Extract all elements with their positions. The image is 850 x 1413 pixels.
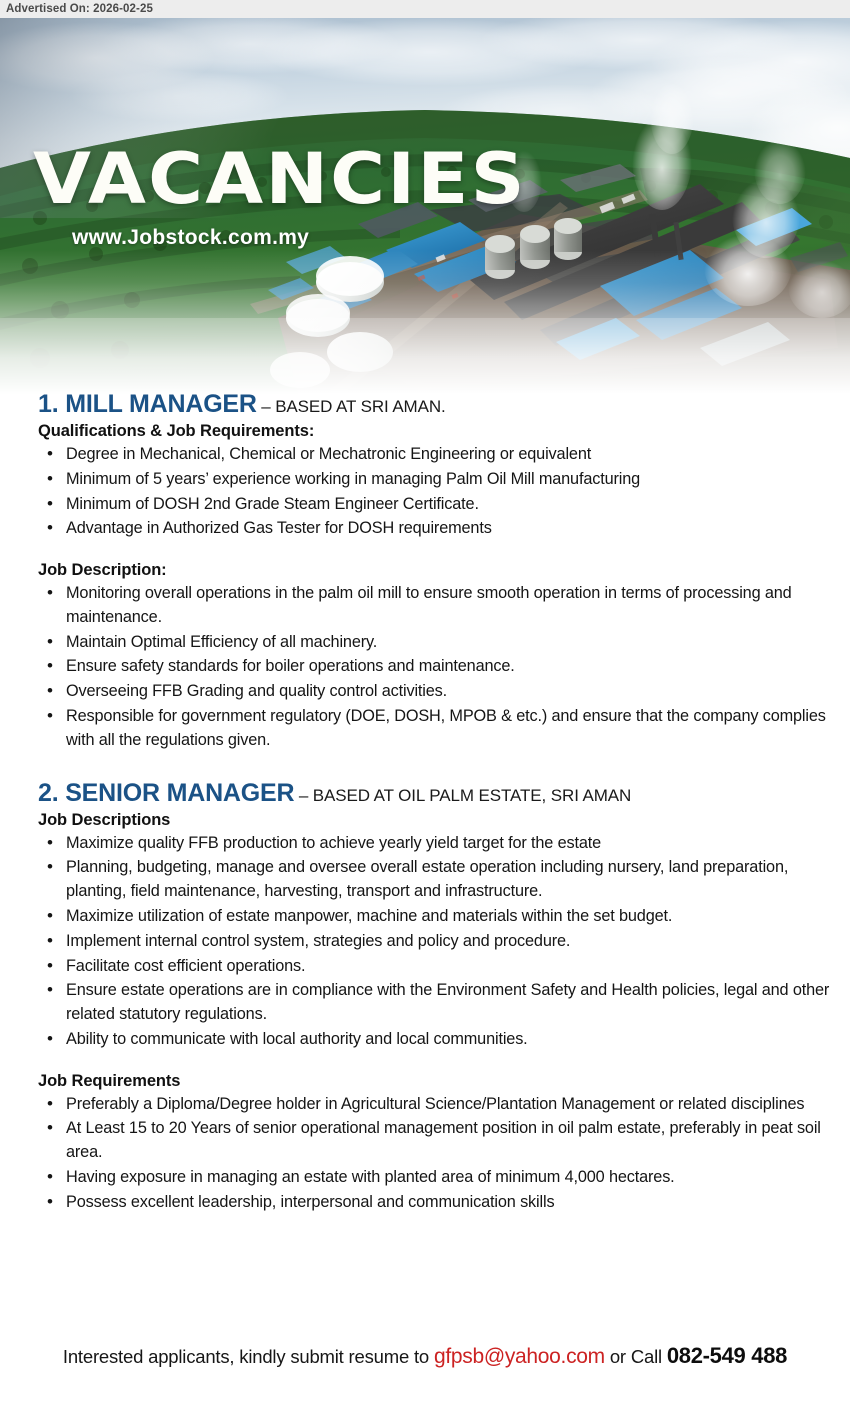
- list-item: Minimum of DOSH 2nd Grade Steam Engineer…: [38, 493, 832, 517]
- job-2-heading: 2. SENIOR MANAGER – BASED AT OIL PALM ES…: [38, 779, 832, 808]
- job-2-descriptions-heading: Job Descriptions: [38, 811, 832, 830]
- contact-email-link[interactable]: gfpsb@yahoo.com: [434, 1345, 605, 1368]
- job-posting-2: 2. SENIOR MANAGER – BASED AT OIL PALM ES…: [38, 779, 832, 1215]
- list-item: Minimum of 5 years’ experience working i…: [38, 468, 832, 492]
- list-item: Possess excellent leadership, interperso…: [38, 1191, 832, 1215]
- job-listings-content: 1. MILL MANAGER – BASED AT SRI AMAN. Qua…: [0, 390, 850, 1215]
- hero-banner: VACANCIES www.Jobstock.com.my: [0, 18, 850, 400]
- hero-title: VACANCIES: [33, 146, 527, 213]
- contact-middle-text: or Call: [610, 1346, 667, 1367]
- footer-contact: Interested applicants, kindly submit res…: [0, 1343, 850, 1369]
- job-2-requirements-list: Preferably a Diploma/Degree holder in Ag…: [38, 1093, 832, 1215]
- list-item: Overseeing FFB Grading and quality contr…: [38, 680, 832, 704]
- list-item: Ensure safety standards for boiler opera…: [38, 655, 832, 679]
- list-item: Preferably a Diploma/Degree holder in Ag…: [38, 1093, 832, 1117]
- list-item: Facilitate cost efficient operations.: [38, 955, 832, 979]
- advertised-on-bar: Advertised On: 2026-02-25: [0, 0, 850, 18]
- list-item: Maximize utilization of estate manpower,…: [38, 905, 832, 929]
- list-item: Monitoring overall operations in the pal…: [38, 582, 832, 630]
- job-1-description-list: Monitoring overall operations in the pal…: [38, 582, 832, 752]
- job-1-qualifications-list: Degree in Mechanical, Chemical or Mechat…: [38, 443, 832, 541]
- job-1-location: – BASED AT SRI AMAN.: [261, 397, 445, 416]
- list-item: Ability to communicate with local author…: [38, 1028, 832, 1052]
- contact-line: Interested applicants, kindly submit res…: [20, 1343, 830, 1369]
- list-item: Degree in Mechanical, Chemical or Mechat…: [38, 443, 832, 467]
- job-1-description-heading: Job Description:: [38, 561, 832, 580]
- list-item: At Least 15 to 20 Years of senior operat…: [38, 1117, 832, 1165]
- hero-website-url: www.Jobstock.com.my: [72, 226, 309, 250]
- list-item: Implement internal control system, strat…: [38, 930, 832, 954]
- job-2-location: – BASED AT OIL PALM ESTATE, SRI AMAN: [299, 786, 631, 805]
- list-item: Advantage in Authorized Gas Tester for D…: [38, 517, 832, 541]
- job-2-requirements-heading: Job Requirements: [38, 1072, 832, 1091]
- job-1-heading: 1. MILL MANAGER – BASED AT SRI AMAN.: [38, 390, 832, 419]
- advertised-on-label: Advertised On: 2026-02-25: [6, 3, 153, 15]
- list-item: Maintain Optimal Efficiency of all machi…: [38, 631, 832, 655]
- list-item: Responsible for government regulatory (D…: [38, 705, 832, 753]
- list-item: Planning, budgeting, manage and oversee …: [38, 856, 832, 904]
- list-item: Maximize quality FFB production to achie…: [38, 832, 832, 856]
- contact-phone-number: 082-549 488: [667, 1343, 787, 1368]
- list-item: Having exposure in managing an estate wi…: [38, 1166, 832, 1190]
- job-2-title: 2. SENIOR MANAGER: [38, 779, 294, 807]
- job-1-qualifications-heading: Qualifications & Job Requirements:: [38, 422, 832, 441]
- section-spacer: [38, 757, 832, 779]
- job-2-descriptions-list: Maximize quality FFB production to achie…: [38, 832, 832, 1052]
- contact-intro-text: Interested applicants, kindly submit res…: [63, 1346, 434, 1367]
- job-1-title: 1. MILL MANAGER: [38, 390, 257, 418]
- list-item: Ensure estate operations are in complian…: [38, 979, 832, 1027]
- job-posting-1: 1. MILL MANAGER – BASED AT SRI AMAN. Qua…: [38, 390, 832, 753]
